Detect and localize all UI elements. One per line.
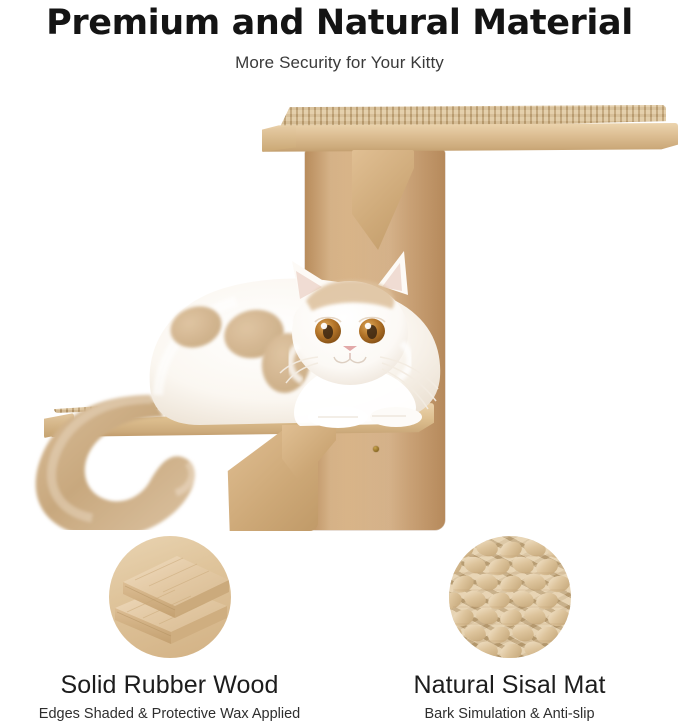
feature-solid-rubber-wood: Solid Rubber Wood Edges Shaded & Protect… bbox=[0, 530, 339, 723]
page-title: Premium and Natural Material bbox=[0, 2, 679, 44]
sisal-weave-swatch-icon bbox=[449, 536, 571, 658]
cat-illustration bbox=[0, 95, 679, 530]
feature-title: Natural Sisal Mat bbox=[340, 670, 679, 700]
feature-subtitle: Edges Shaded & Protective Wax Applied bbox=[0, 705, 339, 723]
feature-subtitle: Bark Simulation & Anti-slip bbox=[340, 705, 679, 723]
page-subtitle: More Security for Your Kitty bbox=[0, 53, 679, 73]
feature-title: Solid Rubber Wood bbox=[0, 670, 339, 700]
cat-photo bbox=[0, 95, 679, 530]
product-photo bbox=[0, 95, 679, 530]
feature-strip: Solid Rubber Wood Edges Shaded & Protect… bbox=[0, 530, 679, 718]
header-block: Premium and Natural Material More Securi… bbox=[0, 0, 679, 73]
feature-natural-sisal-mat: Natural Sisal Mat Bark Simulation & Anti… bbox=[340, 530, 679, 723]
wood-boards-swatch-icon bbox=[109, 536, 231, 658]
marketing-image: Premium and Natural Material More Securi… bbox=[0, 0, 679, 718]
